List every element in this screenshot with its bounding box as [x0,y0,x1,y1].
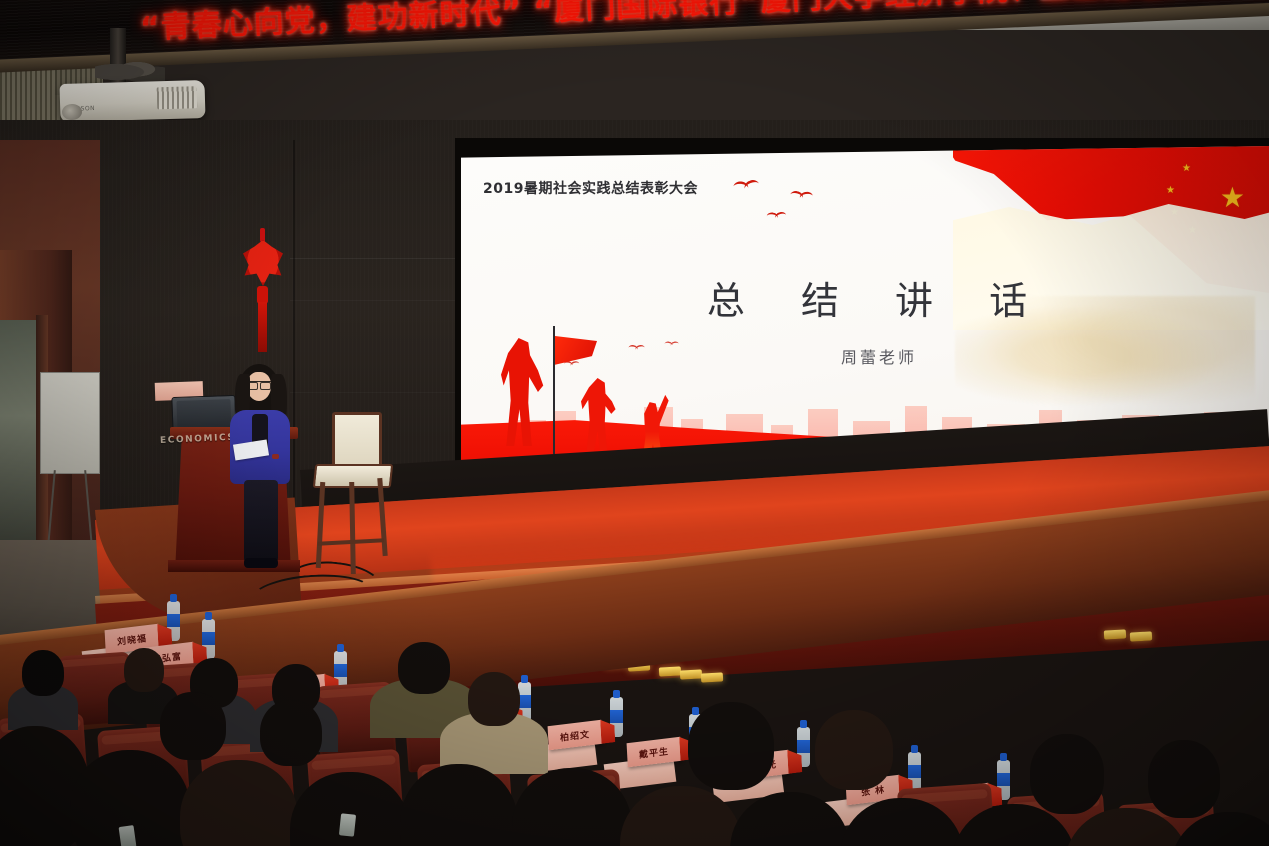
flag-star-small-icon: ★ [1166,186,1175,196]
knot-body [243,240,283,288]
speaker-shoes [244,558,278,568]
stage-bar-stool [306,412,388,562]
audience-head [1148,740,1220,818]
audience-head [260,700,322,766]
audience-head [688,702,774,790]
bird-icon [564,361,581,369]
flipchart-board [40,372,100,474]
speaker-person [228,362,292,568]
projector-vent-icon [157,86,198,109]
audience-head [815,710,893,790]
stool-leg [377,478,387,556]
audience-head [398,642,450,694]
audience-head [124,648,164,692]
glasses-icon [247,381,271,388]
knot-tassel [258,302,267,352]
ceiling-projector: EPSON [59,80,205,122]
bird-icon [664,342,679,349]
bird-icon [733,179,762,194]
auditorium-photo: “青春心向党，建功新时代” “厦门国际银行”厦门大学经济学院、王亚南经济研究院2… [0,0,1269,846]
bird-icon [766,212,787,223]
audience-head [468,672,520,726]
flag-star-small-icon: ★ [1182,164,1191,174]
stool-leg [316,482,325,568]
chinese-knot-decoration-icon [243,228,283,353]
slide-flagpole [553,326,555,454]
flag-star-large-icon: ★ [1220,184,1245,212]
side-doorway [0,320,38,560]
audience-seating-area [0,636,1269,846]
speaker-legs [244,480,278,564]
bird-icon [790,191,815,204]
audience-head [730,792,850,846]
bird-icon [628,345,646,353]
speaker-wristwatch-icon [272,454,279,459]
audience-head [22,650,64,696]
audience-head [1030,734,1104,814]
knot-top [260,228,265,242]
phone-icon [339,813,356,836]
phone-icon [119,825,137,846]
slide-main-title: 总 结 讲 话 [461,270,1269,325]
stool-leg [349,482,356,574]
audience-head [620,786,742,846]
audience-head [160,692,226,760]
slide-header-text: 2019暑期社会实践总结表彰大会 [483,178,698,198]
